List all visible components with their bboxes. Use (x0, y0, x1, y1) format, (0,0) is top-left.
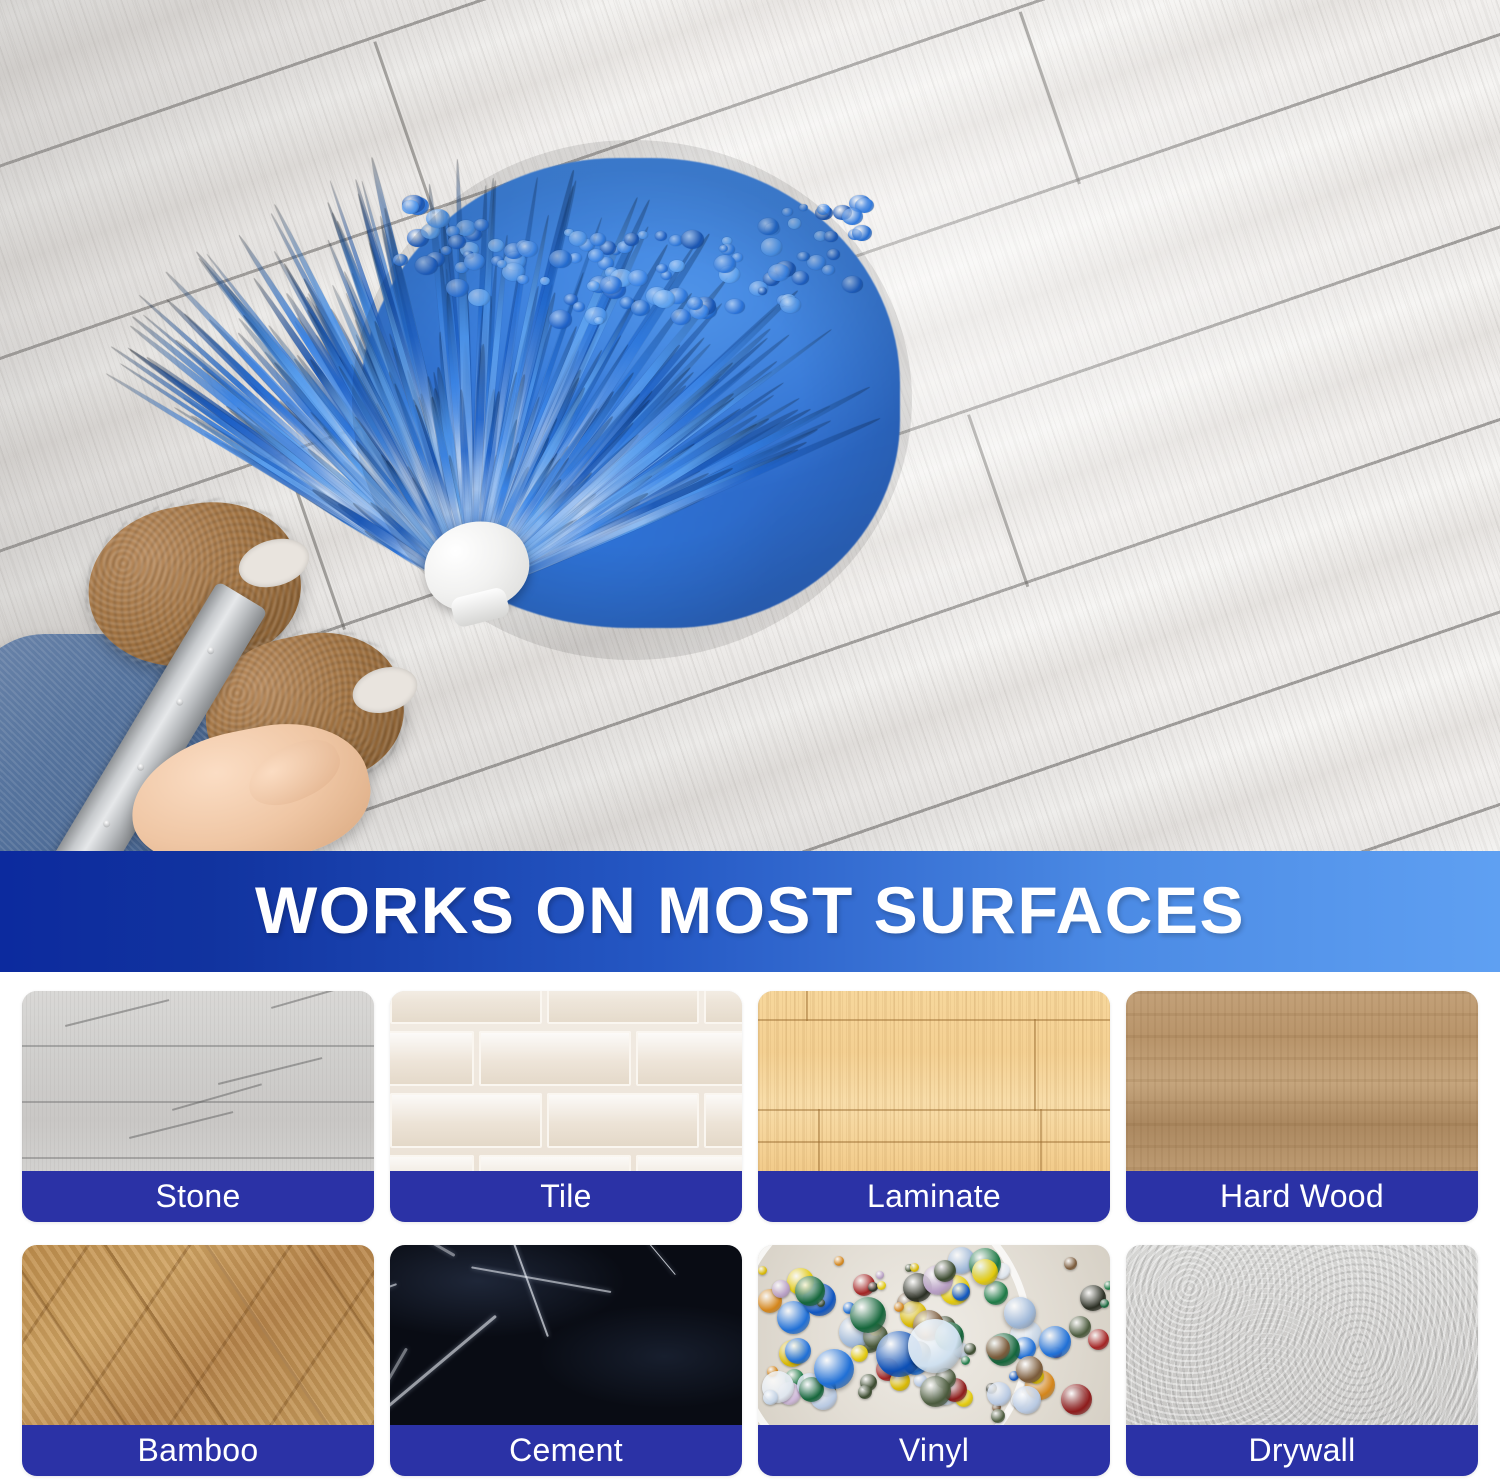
mosaic-pebble (772, 1280, 790, 1298)
texture-detail (1040, 1109, 1042, 1171)
mosaic-pebble (920, 1376, 951, 1407)
mosaic-pebble-large (850, 1297, 886, 1333)
surface-swatch-image (390, 991, 742, 1171)
texture-detail (390, 991, 542, 1024)
surface-card[interactable]: Cement (390, 1245, 742, 1476)
texture-detail (129, 1111, 233, 1139)
texture-detail (547, 991, 699, 1024)
surface-swatch-image (22, 1245, 374, 1425)
headline-banner: WORKS ON MOST SURFACES (0, 851, 1500, 972)
texture-detail (806, 991, 808, 1021)
mosaic-pebble (991, 1409, 1005, 1423)
texture-detail (390, 1245, 742, 1425)
surface-card[interactable]: Stone (22, 991, 374, 1222)
mosaic-pebble (758, 1266, 767, 1275)
surface-card[interactable]: Laminate (758, 991, 1110, 1222)
texture-detail (818, 1109, 820, 1171)
texture-detail (636, 1031, 742, 1086)
texture-detail (390, 1093, 542, 1148)
surface-swatch-image (1126, 1245, 1478, 1425)
handle-rivet (206, 646, 216, 656)
surface-swatch-image (758, 991, 1110, 1171)
mosaic-pebble-large (814, 1349, 854, 1389)
mosaic-pebble (1039, 1326, 1071, 1358)
texture-detail (704, 1093, 742, 1148)
surface-label: Drywall (1126, 1425, 1478, 1476)
mosaic-pebble (934, 1260, 956, 1282)
mosaic-pebble (894, 1302, 904, 1312)
handle-rivet (102, 819, 112, 829)
texture-detail (758, 1109, 1110, 1111)
mosaic-pebble (763, 1390, 778, 1405)
surface-grid: StoneTileLaminateHard WoodBambooCementVi… (0, 972, 1500, 1480)
mosaic-pebble (876, 1271, 884, 1279)
headline-text: WORKS ON MOST SURFACES (255, 877, 1245, 947)
texture-detail (172, 1083, 262, 1110)
texture-detail (218, 1057, 322, 1085)
mosaic-pebble (1016, 1356, 1043, 1383)
surface-card[interactable]: Vinyl (758, 1245, 1110, 1476)
texture-detail (758, 1019, 1110, 1021)
texture-detail (1034, 1019, 1036, 1111)
mosaic-pebble-large (1004, 1297, 1036, 1329)
texture-detail (479, 1031, 631, 1086)
mosaic-pebble (987, 1382, 1011, 1406)
surface-swatch-image (390, 1245, 742, 1425)
texture-detail (547, 1093, 699, 1148)
surface-label: Laminate (758, 1171, 1110, 1222)
texture-detail (271, 991, 361, 1009)
surface-label: Bamboo (22, 1425, 374, 1476)
surface-label: Vinyl (758, 1425, 1110, 1476)
surface-card[interactable]: Tile (390, 991, 742, 1222)
mosaic-pebble (877, 1281, 886, 1290)
product-infographic: WORKS ON MOST SURFACES StoneTileLaminate… (0, 0, 1500, 1480)
mosaic-pebble (986, 1336, 1010, 1360)
mosaic-pebble (1013, 1386, 1041, 1414)
mosaic-pebble (858, 1385, 872, 1399)
handle-rivet (175, 697, 185, 707)
texture-detail (758, 1141, 1110, 1143)
surface-label: Cement (390, 1425, 742, 1476)
mosaic-pebble (964, 1343, 976, 1355)
mosaic-pebble (1061, 1384, 1092, 1415)
mosaic-pebble (1088, 1329, 1109, 1350)
mosaic-pebble-large (908, 1319, 962, 1373)
texture-detail (390, 1031, 474, 1086)
surface-swatch-image (1126, 991, 1478, 1171)
mosaic-pebble (961, 1356, 970, 1365)
surface-label: Tile (390, 1171, 742, 1222)
mosaic-pebble (1064, 1257, 1077, 1270)
handle-rivet (136, 762, 146, 772)
surface-label: Hard Wood (1126, 1171, 1478, 1222)
mosaic-pebble (1100, 1299, 1109, 1308)
surface-swatch-image (758, 1245, 1110, 1425)
texture-detail (704, 991, 742, 1024)
surface-swatch-image (22, 991, 374, 1171)
mop-head (352, 140, 912, 660)
hero-photo (0, 0, 1500, 851)
surface-card[interactable]: Drywall (1126, 1245, 1478, 1476)
surface-card[interactable]: Bamboo (22, 1245, 374, 1476)
mosaic-pebble (834, 1256, 844, 1266)
surface-label: Stone (22, 1171, 374, 1222)
mosaic-pebble (1104, 1281, 1110, 1290)
surface-card[interactable]: Hard Wood (1126, 991, 1478, 1222)
texture-detail (65, 999, 169, 1027)
mosaic-pebble (910, 1263, 919, 1272)
mosaic-pebble-large (972, 1259, 998, 1285)
